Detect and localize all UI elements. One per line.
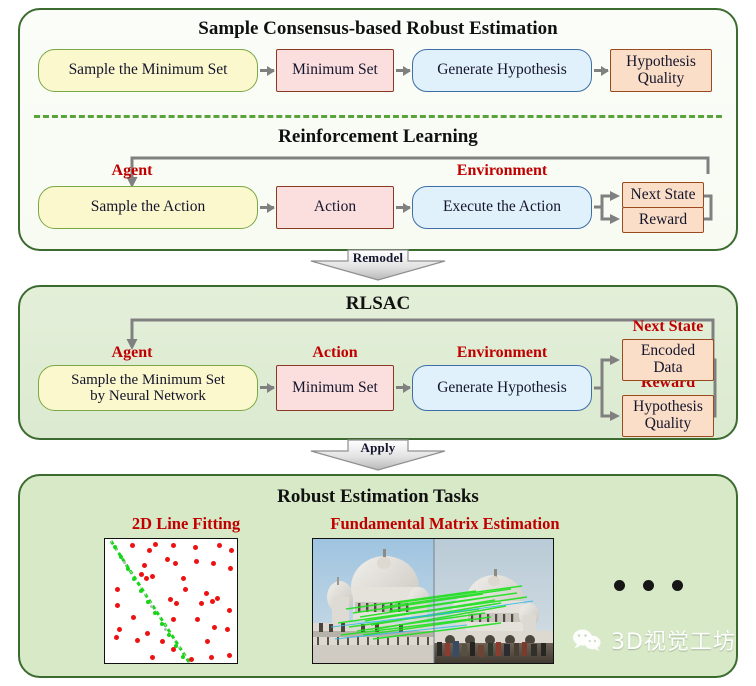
watermark: 3D视觉工坊 (572, 624, 736, 656)
panel-rlsac: RLSAC Agent Action Environment Next Stat… (18, 285, 738, 440)
section-title-robust-estimation-tasks: Robust Estimation Tasks (20, 486, 736, 508)
block-reward-rl: Reward (622, 207, 704, 233)
wechat-icon (572, 628, 602, 652)
block-encoded-data-line1: Encoded (641, 343, 695, 360)
transition-label-remodel: Remodel (308, 250, 448, 266)
block-next-state-rl: Next State (622, 182, 704, 208)
watermark-text: 3D视觉工坊 (611, 624, 736, 656)
panel-robust-estimation-tasks: Robust Estimation Tasks 2D Line Fitting … (18, 474, 738, 678)
task-label-2d-line-fitting: 2D Line Fitting (84, 514, 288, 534)
ellipsis-dot-3 (672, 580, 683, 591)
block-hypothesis-quality-rlsac-line1: Hypothesis (633, 399, 703, 416)
ellipsis-dot-1 (614, 580, 625, 591)
transition-label-apply: Apply (308, 440, 448, 456)
transition-arrow-remodel: Remodel (308, 248, 448, 282)
panel-sample-consensus-and-rl: Sample Consensus-based Robust Estimation… (18, 8, 738, 251)
basilica-image-pair (313, 539, 554, 664)
transition-arrow-apply: Apply (308, 438, 448, 472)
block-encoded-data: Encoded Data (622, 339, 714, 381)
more-tasks-ellipsis (614, 580, 683, 591)
diagram-canvas: Sample Consensus-based Robust Estimation… (0, 0, 756, 686)
task-label-fundamental-matrix: Fundamental Matrix Estimation (290, 514, 600, 534)
figure-2d-line-fitting (104, 538, 238, 664)
ellipsis-dot-2 (643, 580, 654, 591)
block-encoded-data-line2: Data (653, 360, 682, 377)
block-hypothesis-quality-rlsac: Hypothesis Quality (622, 395, 714, 437)
figure-fundamental-matrix-image-pair (312, 538, 554, 664)
block-hypothesis-quality-rlsac-line2: Quality (645, 416, 692, 433)
